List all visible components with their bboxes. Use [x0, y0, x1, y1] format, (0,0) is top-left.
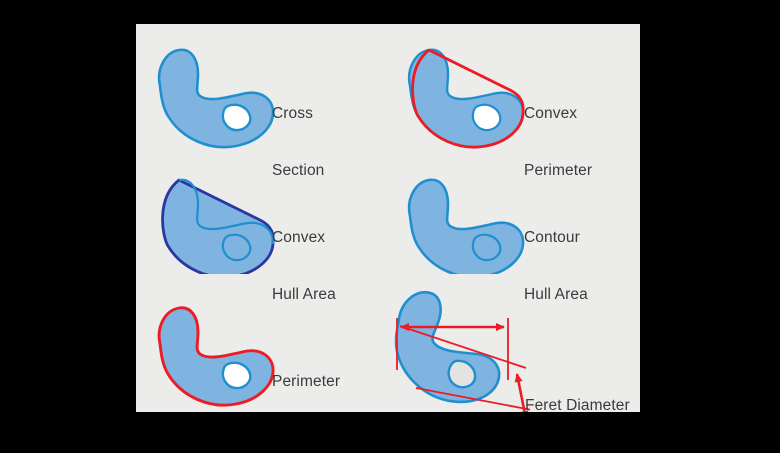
convex-hull-area-hull	[163, 180, 274, 274]
label-contour-hull-area-line2: Hull Area	[524, 285, 588, 304]
convex-perimeter-hole	[473, 105, 500, 130]
figure-cross-section	[150, 34, 280, 154]
figure-perimeter	[150, 292, 290, 412]
label-feret-diameter-line1: Feret Diameter	[525, 396, 630, 415]
label-contour-hull-area-line1: Contour	[524, 228, 588, 247]
label-convex-hull-area-line1: Convex	[272, 228, 336, 247]
figure-contour-hull-area	[400, 164, 540, 274]
contour-hull-area-body	[409, 180, 523, 274]
figure-root: Cross Section Convex Perimeter Convex Hu…	[0, 0, 780, 435]
label-perimeter-line1: Perimeter	[272, 372, 340, 391]
contour-hull-area-hole	[473, 235, 500, 260]
cross-section-hole	[223, 105, 250, 130]
label-cross-section-line1: Cross	[272, 104, 324, 123]
figure-panel: Cross Section Convex Perimeter Convex Hu…	[136, 24, 640, 412]
label-perimeter: Perimeter	[272, 334, 340, 429]
convex-perimeter-body	[409, 50, 523, 147]
cross-section-body	[159, 50, 273, 147]
perimeter-body	[159, 308, 273, 405]
figure-convex-hull-area	[150, 164, 290, 274]
label-feret-diameter: Feret Diameter	[525, 358, 630, 453]
label-contour-hull-area: Contour Hull Area	[524, 190, 588, 342]
label-convex-perimeter-line1: Convex	[524, 104, 592, 123]
figure-convex-perimeter	[400, 34, 540, 154]
figure-feret-diameter	[380, 288, 530, 412]
perimeter-hole	[223, 363, 250, 388]
